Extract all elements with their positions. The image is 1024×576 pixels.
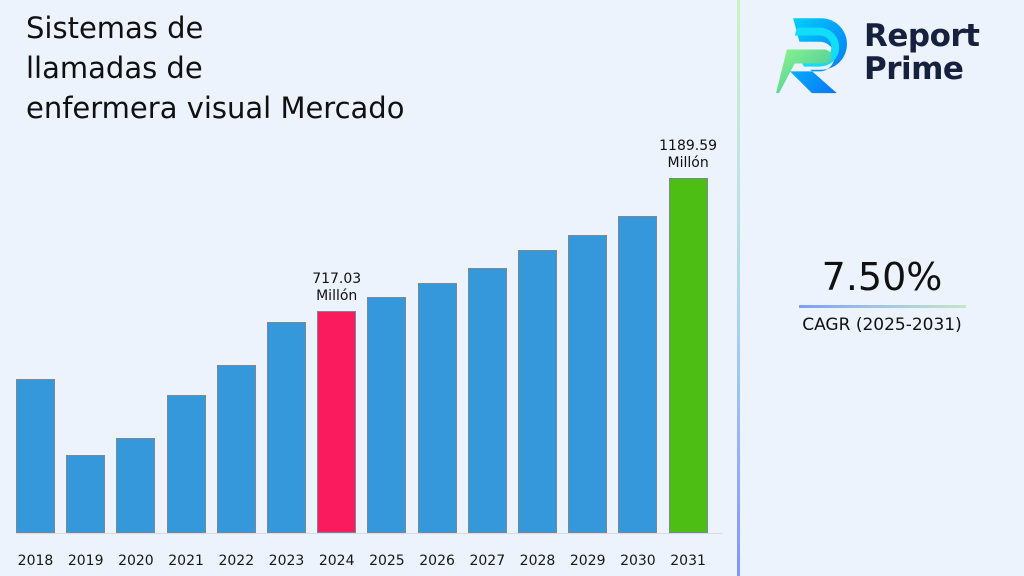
cagr-caption: CAGR (2025-2031)	[740, 314, 1024, 336]
brand-logo: Report Prime	[776, 12, 980, 94]
bar-group-2027: 2027	[468, 268, 507, 533]
bar-2029	[568, 235, 607, 533]
x-axis-tick-2022: 2022	[218, 553, 254, 569]
bar-group-2021: 2021	[167, 395, 206, 533]
bar-group-2024: 2024717.03 Millón	[317, 311, 356, 533]
bar-2027	[468, 268, 507, 533]
value-annotation-2031: 1189.59 Millón	[659, 138, 717, 172]
bar-2022	[217, 365, 256, 533]
x-axis-tick-2028: 2028	[520, 553, 556, 569]
x-axis-tick-2024: 2024	[319, 553, 355, 569]
bar-group-2020: 2020	[116, 438, 155, 533]
bar-2028	[518, 250, 557, 533]
bar-group-2028: 2028	[518, 250, 557, 533]
brand-name: Report Prime	[864, 20, 980, 86]
bar-2024	[317, 311, 356, 533]
bar-2031	[669, 178, 708, 533]
report-prime-r-logo-icon	[776, 12, 854, 94]
bar-2030	[618, 216, 657, 533]
bar-group-2031: 20311189.59 Millón	[669, 178, 708, 533]
x-axis-tick-2031: 2031	[670, 553, 706, 569]
x-axis-tick-2025: 2025	[369, 553, 405, 569]
x-axis-tick-2019: 2019	[68, 553, 104, 569]
bar-group-2023: 2023	[267, 322, 306, 533]
bar-group-2019: 2019	[66, 455, 105, 533]
chart-panel: Sistemas de llamadas de enfermera visual…	[0, 0, 738, 576]
x-axis-tick-2018: 2018	[18, 553, 54, 569]
chart-infographic: Sistemas de llamadas de enfermera visual…	[0, 0, 1024, 576]
x-axis-tick-2020: 2020	[118, 553, 154, 569]
bar-2021	[167, 395, 206, 533]
value-annotation-2024: 717.03 Millón	[312, 271, 361, 305]
x-axis-tick-2021: 2021	[168, 553, 204, 569]
bar-group-2026: 2026	[418, 283, 457, 533]
x-axis-tick-2030: 2030	[620, 553, 656, 569]
bar-group-2029: 2029	[568, 235, 607, 533]
bar-2023	[267, 322, 306, 533]
bar-chart-plot-area: 2018201920202021202220232024717.03 Milló…	[0, 0, 738, 576]
bar-group-2022: 2022	[217, 365, 256, 533]
bar-group-2025: 2025	[367, 297, 406, 533]
cagr-value: 7.50%	[740, 255, 1024, 299]
x-axis-line	[16, 533, 722, 534]
x-axis-tick-2027: 2027	[469, 553, 505, 569]
cagr-block: 7.50% CAGR (2025-2031)	[740, 255, 1024, 336]
x-axis-tick-2026: 2026	[419, 553, 455, 569]
cagr-divider-rule	[799, 305, 966, 308]
bar-2019	[66, 455, 105, 533]
bar-2018	[16, 379, 55, 533]
bar-2026	[418, 283, 457, 533]
bar-2020	[116, 438, 155, 533]
side-panel: Report Prime 7.50% CAGR (2025-2031)	[740, 0, 1024, 576]
x-axis-tick-2023: 2023	[269, 553, 305, 569]
bar-2025	[367, 297, 406, 533]
bar-group-2018: 2018	[16, 379, 55, 533]
x-axis-tick-2029: 2029	[570, 553, 606, 569]
bar-group-2030: 2030	[618, 216, 657, 533]
